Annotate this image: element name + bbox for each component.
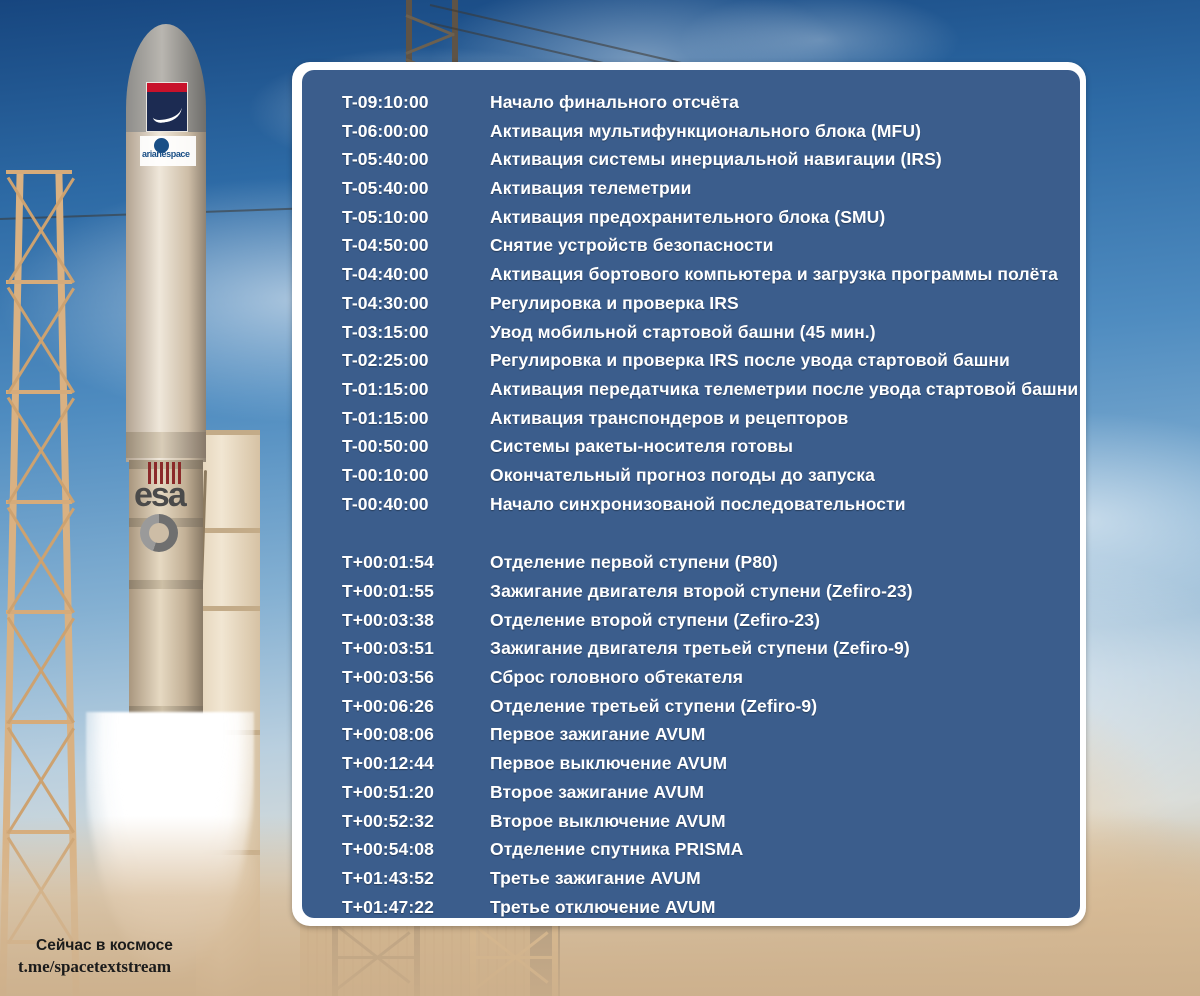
timeline-row: T-04:30:00Регулировка и проверка IRS [342, 293, 1066, 322]
timeline-event: Первое зажигание AVUM [490, 724, 705, 745]
timeline-event: Третье отключение AVUM [490, 897, 716, 918]
timeline-event: Отделение третьей ступени (Zefiro-9) [490, 696, 817, 717]
vega-launch-vehicle: arianespace esa [126, 24, 206, 724]
timeline-event: Зажигание двигателя второй ступени (Zefi… [490, 581, 913, 602]
arianespace-decal-label: arianespace [142, 149, 190, 159]
timeline-row: T-00:50:00Системы ракеты-носителя готовы [342, 436, 1066, 465]
timeline-time: T-04:40:00 [342, 264, 490, 285]
timeline-time: T+00:03:51 [342, 638, 490, 659]
timeline-time: T-00:10:00 [342, 465, 490, 486]
timeline-time: T+00:03:56 [342, 667, 490, 688]
timeline-event: Снятие устройств безопасности [490, 235, 774, 256]
timeline-event: Регулировка и проверка IRS после увода с… [490, 350, 1010, 371]
timeline-row: T-05:10:00Активация предохранительного б… [342, 207, 1066, 236]
timeline-event: Активация мультифункционального блока (M… [490, 121, 921, 142]
timeline-event: Увод мобильной стартовой башни (45 мин.) [490, 322, 876, 343]
watermark-link: t.me/spacetextstream [18, 956, 173, 978]
timeline-time: T+00:08:06 [342, 724, 490, 745]
timeline-event: Активация предохранительного блока (SMU) [490, 207, 885, 228]
timeline-time: T+00:54:08 [342, 839, 490, 860]
screenshot-root: arianespace esa [0, 0, 1200, 996]
timeline-event: Активация бортового компьютера и загрузк… [490, 264, 1058, 285]
timeline-event: Активация передатчика телеметрии после у… [490, 379, 1078, 400]
timeline-event: Сброс головного обтекателя [490, 667, 743, 688]
timeline-event: Отделение второй ступени (Zefiro-23) [490, 610, 820, 631]
timeline-time: T-01:15:00 [342, 379, 490, 400]
timeline-row: T+00:12:44Первое выключение AVUM [342, 753, 1066, 782]
timeline-event: Отделение первой ступени (P80) [490, 552, 778, 573]
timeline-time: T+01:47:22 [342, 897, 490, 918]
timeline-row: T-05:40:00Активация телеметрии [342, 178, 1066, 207]
timeline-time: T-09:10:00 [342, 92, 490, 113]
timeline-event: Второе выключение AVUM [490, 811, 726, 832]
channel-watermark: Сейчас в космосе t.me/spacetextstream [18, 936, 173, 978]
timeline-event: Третье зажигание AVUM [490, 868, 701, 889]
timeline-group-gap [342, 522, 1066, 552]
timeline-event: Второе зажигание AVUM [490, 782, 704, 803]
timeline-row: T+00:01:55Зажигание двигателя второй сту… [342, 581, 1066, 610]
timeline-time: T+00:01:55 [342, 581, 490, 602]
timeline-event: Активация телеметрии [490, 178, 692, 199]
arianespace-decal: arianespace [140, 136, 196, 166]
timeline-event: Окончательный прогноз погоды до запуска [490, 465, 875, 486]
timeline-row: T+01:47:22Третье отключение AVUM [342, 897, 1066, 926]
timeline-time: T-01:15:00 [342, 408, 490, 429]
timeline-time: T-03:15:00 [342, 322, 490, 343]
timeline-row: T+00:03:38Отделение второй ступени (Zefi… [342, 610, 1066, 639]
timeline-event: Первое выключение AVUM [490, 753, 727, 774]
timeline-rows: T-09:10:00Начало финального отсчётаT-06:… [342, 92, 1066, 925]
timeline-row: T-01:15:00Активация передатчика телеметр… [342, 379, 1066, 408]
timeline-row: T+00:08:06Первое зажигание AVUM [342, 724, 1066, 753]
timeline-time: T-04:30:00 [342, 293, 490, 314]
timeline-time: T-02:25:00 [342, 350, 490, 371]
launch-timeline-panel: T-09:10:00Начало финального отсчётаT-06:… [302, 70, 1080, 918]
timeline-time: T-05:40:00 [342, 178, 490, 199]
timeline-row: T-04:50:00Снятие устройств безопасности [342, 235, 1066, 264]
timeline-row: T+00:54:08Отделение спутника PRISMA [342, 839, 1066, 868]
timeline-time: T+00:52:32 [342, 811, 490, 832]
timeline-event: Начало финального отсчёта [490, 92, 739, 113]
timeline-time: T-05:40:00 [342, 149, 490, 170]
timeline-event: Зажигание двигателя третьей ступени (Zef… [490, 638, 910, 659]
timeline-time: T-06:00:00 [342, 121, 490, 142]
timeline-row: T-03:15:00Увод мобильной стартовой башни… [342, 322, 1066, 351]
timeline-event: Активация системы инерциальной навигации… [490, 149, 942, 170]
timeline-time: T-00:40:00 [342, 494, 490, 515]
timeline-row: T+00:01:54Отделение первой ступени (P80) [342, 552, 1066, 581]
timeline-time: T+00:03:38 [342, 610, 490, 631]
esa-decal-label: esa [134, 476, 185, 515]
timeline-event: Начало синхронизованой последовательност… [490, 494, 906, 515]
gokturk-decal [146, 82, 188, 132]
timeline-row: T-01:15:00Активация транспондеров и реце… [342, 408, 1066, 437]
timeline-row: T-00:10:00Окончательный прогноз погоды д… [342, 465, 1066, 494]
timeline-time: T+00:06:26 [342, 696, 490, 717]
timeline-event: Регулировка и проверка IRS [490, 293, 739, 314]
timeline-row: T+01:43:52Третье зажигание AVUM [342, 868, 1066, 897]
timeline-time: T+01:43:52 [342, 868, 490, 889]
timeline-row: T+00:03:51Зажигание двигателя третьей ст… [342, 638, 1066, 667]
timeline-time: T-00:50:00 [342, 436, 490, 457]
timeline-row: T-09:10:00Начало финального отсчёта [342, 92, 1066, 121]
timeline-row: T+00:51:20Второе зажигание AVUM [342, 782, 1066, 811]
timeline-time: T+00:12:44 [342, 753, 490, 774]
payload-fairing [126, 132, 206, 462]
timeline-row: T+00:03:56Сброс головного обтекателя [342, 667, 1066, 696]
timeline-time: T-05:10:00 [342, 207, 490, 228]
timeline-event: Отделение спутника PRISMA [490, 839, 743, 860]
timeline-time: T-04:50:00 [342, 235, 490, 256]
timeline-time: T+00:51:20 [342, 782, 490, 803]
watermark-title: Сейчас в космосе [18, 936, 173, 956]
timeline-row: T-02:25:00Регулировка и проверка IRS пос… [342, 350, 1066, 379]
timeline-event: Активация транспондеров и рецепторов [490, 408, 848, 429]
esa-decal: esa [132, 476, 194, 560]
timeline-row: T+00:52:32Второе выключение AVUM [342, 811, 1066, 840]
timeline-row: T-06:00:00Активация мультифункциональног… [342, 121, 1066, 150]
timeline-event: Системы ракеты-носителя готовы [490, 436, 793, 457]
timeline-row: T-05:40:00Активация системы инерциальной… [342, 149, 1066, 178]
timeline-row: T+00:06:26Отделение третьей ступени (Zef… [342, 696, 1066, 725]
timeline-row: T-00:40:00Начало синхронизованой последо… [342, 494, 1066, 523]
timeline-row: T-04:40:00Активация бортового компьютера… [342, 264, 1066, 293]
timeline-time: T+00:01:54 [342, 552, 490, 573]
